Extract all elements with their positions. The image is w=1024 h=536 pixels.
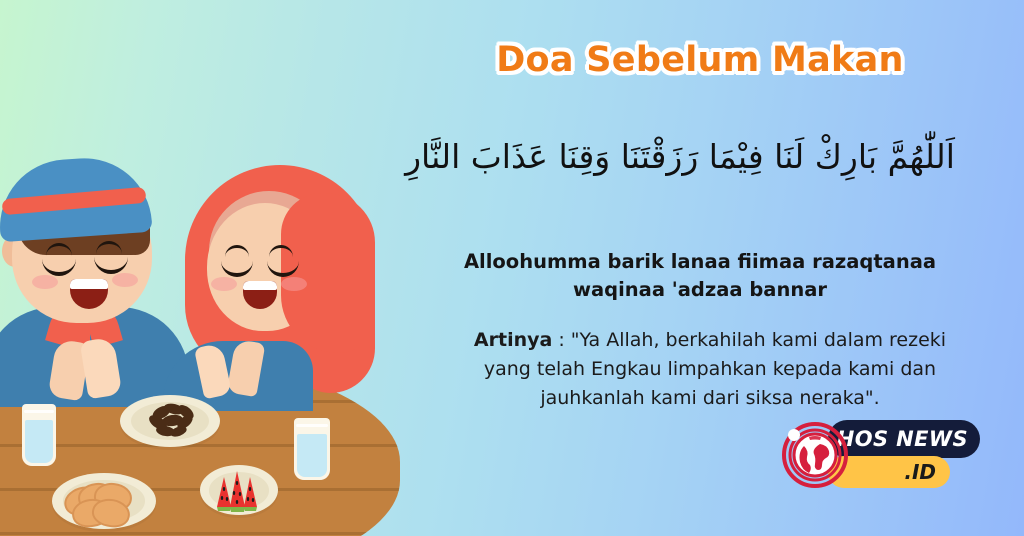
plate-of-dates bbox=[120, 395, 220, 447]
globe-icon bbox=[782, 422, 848, 488]
meaning-text: Artinya : "Ya Allah, berkahilah kami dal… bbox=[420, 326, 1000, 413]
arabic-doa-text: اَللّٰهُمَّ بَارِكْ لَنَا فِيْمَا رَزَقْ… bbox=[370, 132, 990, 182]
meaning-line-2: yang telah Engkau limpahkan kepada kami … bbox=[420, 355, 1000, 384]
boy-praying bbox=[0, 155, 200, 385]
meaning-separator: : bbox=[552, 329, 570, 351]
logo-news-text: HOS NEWS bbox=[837, 427, 968, 451]
water-glass-right bbox=[294, 418, 330, 480]
transliteration-line-1: Alloohumma barik lanaa fiimaa razaqtanaa bbox=[400, 248, 1000, 276]
transliteration-line-2: waqinaa 'adzaa bannar bbox=[400, 276, 1000, 304]
logo-domain-text: .ID bbox=[904, 460, 936, 484]
logo-news-pill: HOS NEWS bbox=[828, 420, 980, 458]
page-title: Doa Sebelum Makan bbox=[400, 40, 1000, 80]
meaning-label: Artinya bbox=[474, 329, 552, 351]
plate-of-watermelon bbox=[200, 465, 278, 515]
transliteration-text: Alloohumma barik lanaa fiimaa razaqtanaa… bbox=[400, 248, 1000, 305]
meaning-line-1: Artinya : "Ya Allah, berkahilah kami dal… bbox=[420, 326, 1000, 355]
water-glass-left bbox=[22, 404, 56, 466]
meaning-line-3: jauhkanlah kami dari siksa neraka". bbox=[420, 384, 1000, 413]
infographic-canvas: Doa Sebelum Makan اَللّٰهُمَّ بَارِكْ لَ… bbox=[0, 0, 1024, 536]
hos-news-id-logo[interactable]: HOS NEWS .ID bbox=[782, 418, 992, 494]
plate-of-cookies bbox=[52, 473, 156, 529]
meaning-line-1-text: "Ya Allah, berkahilah kami dalam rezeki bbox=[571, 329, 946, 351]
girl-praying bbox=[185, 165, 385, 390]
